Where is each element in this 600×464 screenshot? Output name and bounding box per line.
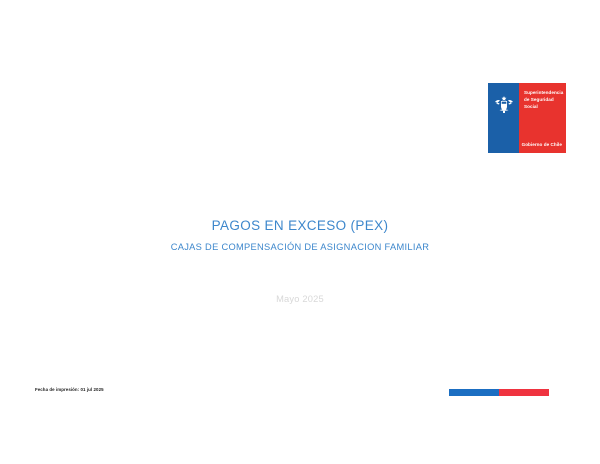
page-subtitle: CAJAS DE COMPENSACIÓN DE ASIGNACION FAMI… xyxy=(0,242,600,254)
chile-coat-of-arms-icon xyxy=(493,95,515,115)
footer-color-bar xyxy=(449,389,549,396)
page-title: PAGOS EN EXCESO (PEX) xyxy=(0,218,600,235)
title-block: PAGOS EN EXCESO (PEX) CAJAS DE COMPENSAC… xyxy=(0,218,600,253)
print-date-stamp: Fecha de impresión: 01 jul 2025 xyxy=(35,387,104,392)
logo-institution-name: Superintendencia de Seguridad Social xyxy=(524,89,563,110)
document-cover-page: Superintendencia de Seguridad Social Gob… xyxy=(0,0,600,464)
institutional-logo: Superintendencia de Seguridad Social Gob… xyxy=(488,83,566,153)
logo-government-name: Gobierno de Chile xyxy=(522,142,562,147)
footer-bar-red xyxy=(499,389,549,396)
logo-red-panel: Superintendencia de Seguridad Social Gob… xyxy=(519,83,566,153)
document-date: Mayo 2025 xyxy=(0,294,600,304)
logo-blue-panel xyxy=(488,83,519,153)
footer-bar-blue xyxy=(449,389,499,396)
